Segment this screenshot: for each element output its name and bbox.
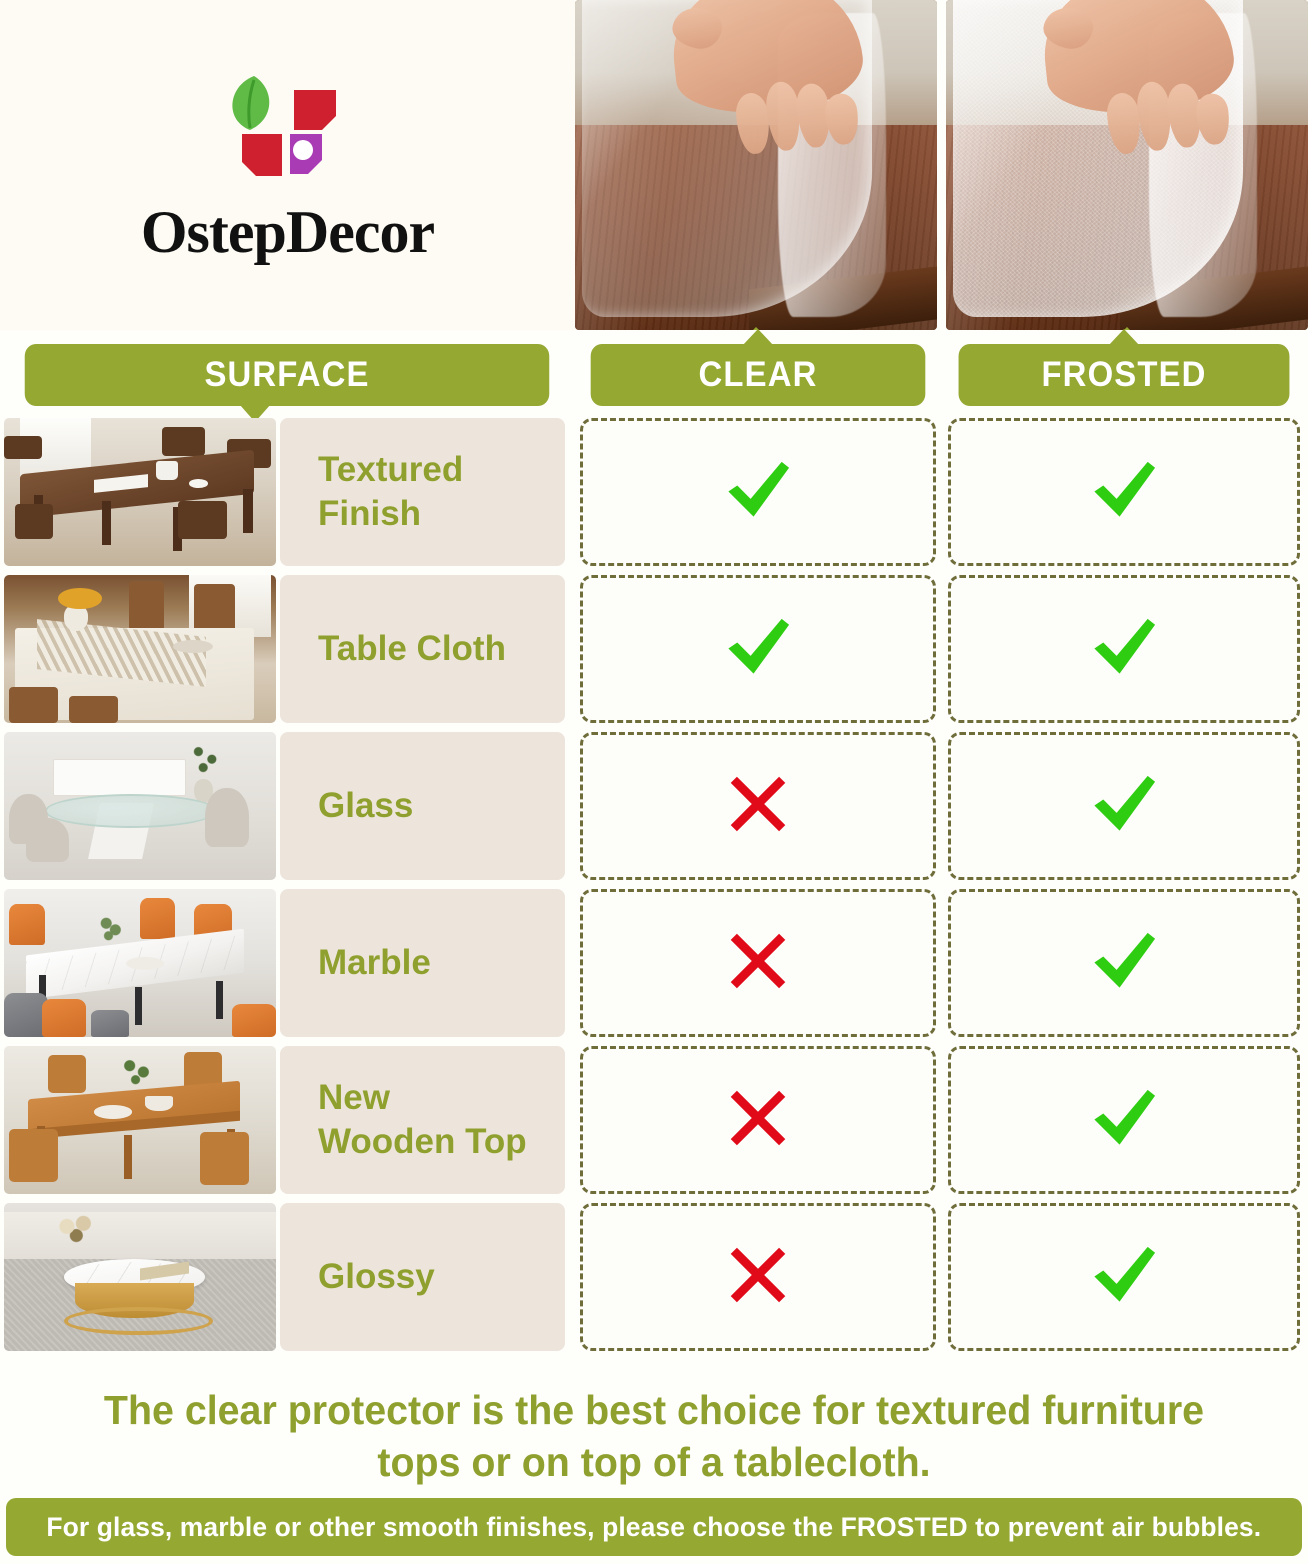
clear-result-cell	[580, 732, 936, 880]
clear-result-cell	[580, 575, 936, 723]
checkmark-icon	[1087, 610, 1161, 689]
brand-block: OstepDecor	[0, 0, 575, 330]
cross-icon	[727, 930, 789, 997]
surface-label-text: Marble	[318, 941, 431, 985]
surface-thumbnail-2	[4, 575, 276, 723]
table-row: Glossy	[0, 1203, 1308, 1351]
column-header-surface-label: SURFACE	[204, 355, 369, 395]
checkmark-icon	[1087, 1081, 1161, 1160]
column-header-clear-label: CLEAR	[699, 355, 818, 395]
table-row: Glass	[0, 732, 1308, 880]
frosted-result-cell	[948, 418, 1300, 566]
tagline-line-1: The clear protector is the best choice f…	[26, 1384, 1282, 1436]
cross-icon	[727, 1244, 789, 1311]
comparison-table: TexturedFinish Table Cloth Glass	[0, 418, 1308, 1360]
checkmark-icon	[1087, 767, 1161, 846]
checkmark-icon	[721, 453, 795, 532]
surface-label-text: Glass	[318, 784, 413, 828]
frosted-result-cell	[948, 575, 1300, 723]
frosted-result-cell	[948, 1046, 1300, 1194]
table-row: Table Cloth	[0, 575, 1308, 723]
surface-label-cell-1: TexturedFinish	[280, 418, 565, 566]
hero-photos	[575, 0, 1308, 330]
frosted-result-cell	[948, 732, 1300, 880]
surface-label-cell-3: Glass	[280, 732, 565, 880]
cross-icon	[727, 1087, 789, 1154]
frosted-advice-banner: For glass, marble or other smooth finish…	[6, 1498, 1302, 1556]
column-header-frosted: FROSTED	[959, 344, 1290, 406]
column-header-clear: CLEAR	[591, 344, 926, 406]
table-row: NewWooden Top	[0, 1046, 1308, 1194]
clear-result-cell	[580, 1203, 936, 1351]
surface-label-text: Glossy	[318, 1255, 435, 1299]
cross-icon	[727, 773, 789, 840]
brand-wordmark: OstepDecor	[141, 202, 434, 262]
surface-thumbnail-5	[4, 1046, 276, 1194]
clear-result-cell	[580, 418, 936, 566]
frosted-tail-icon	[1109, 329, 1139, 345]
surface-label-text: NewWooden Top	[318, 1076, 527, 1164]
surface-thumbnail-4	[4, 889, 276, 1037]
pointer-up-clear-icon	[739, 327, 773, 330]
surface-label-cell-6: Glossy	[280, 1203, 565, 1351]
clear-tail-icon	[743, 329, 773, 345]
frosted-protector-photo	[946, 0, 1308, 330]
surface-thumbnail-1	[4, 418, 276, 566]
table-row: TexturedFinish	[0, 418, 1308, 566]
clear-result-cell	[580, 889, 936, 1037]
surface-thumbnail-3	[4, 732, 276, 880]
surface-label-cell-2: Table Cloth	[280, 575, 565, 723]
table-row: Marble	[0, 889, 1308, 1037]
checkmark-icon	[721, 610, 795, 689]
clear-protector-photo	[575, 0, 937, 330]
column-header-surface: SURFACE	[25, 344, 550, 406]
surface-label-cell-5: NewWooden Top	[280, 1046, 565, 1194]
pointer-up-frosted-icon	[1110, 327, 1144, 330]
clear-result-cell	[580, 1046, 936, 1194]
hero-section: OstepDecor	[0, 0, 1308, 330]
checkmark-icon	[1087, 453, 1161, 532]
checkmark-icon	[1087, 1238, 1161, 1317]
frosted-result-cell	[948, 1203, 1300, 1351]
frosted-advice-banner-text: For glass, marble or other smooth finish…	[47, 1512, 1262, 1543]
table-header-row: SURFACE CLEAR FROSTED	[0, 344, 1308, 410]
surface-label-cell-4: Marble	[280, 889, 565, 1037]
tagline-line-2: tops or on top of a tablecloth.	[26, 1436, 1282, 1488]
tagline: The clear protector is the best choice f…	[0, 1384, 1308, 1489]
checkmark-icon	[1087, 924, 1161, 1003]
column-header-frosted-label: FROSTED	[1041, 355, 1206, 395]
leaf-and-squares-logo-icon	[198, 68, 378, 198]
frosted-result-cell	[948, 889, 1300, 1037]
surface-label-text: Table Cloth	[318, 627, 506, 671]
surface-thumbnail-6	[4, 1203, 276, 1351]
surface-label-text: TexturedFinish	[318, 448, 463, 536]
